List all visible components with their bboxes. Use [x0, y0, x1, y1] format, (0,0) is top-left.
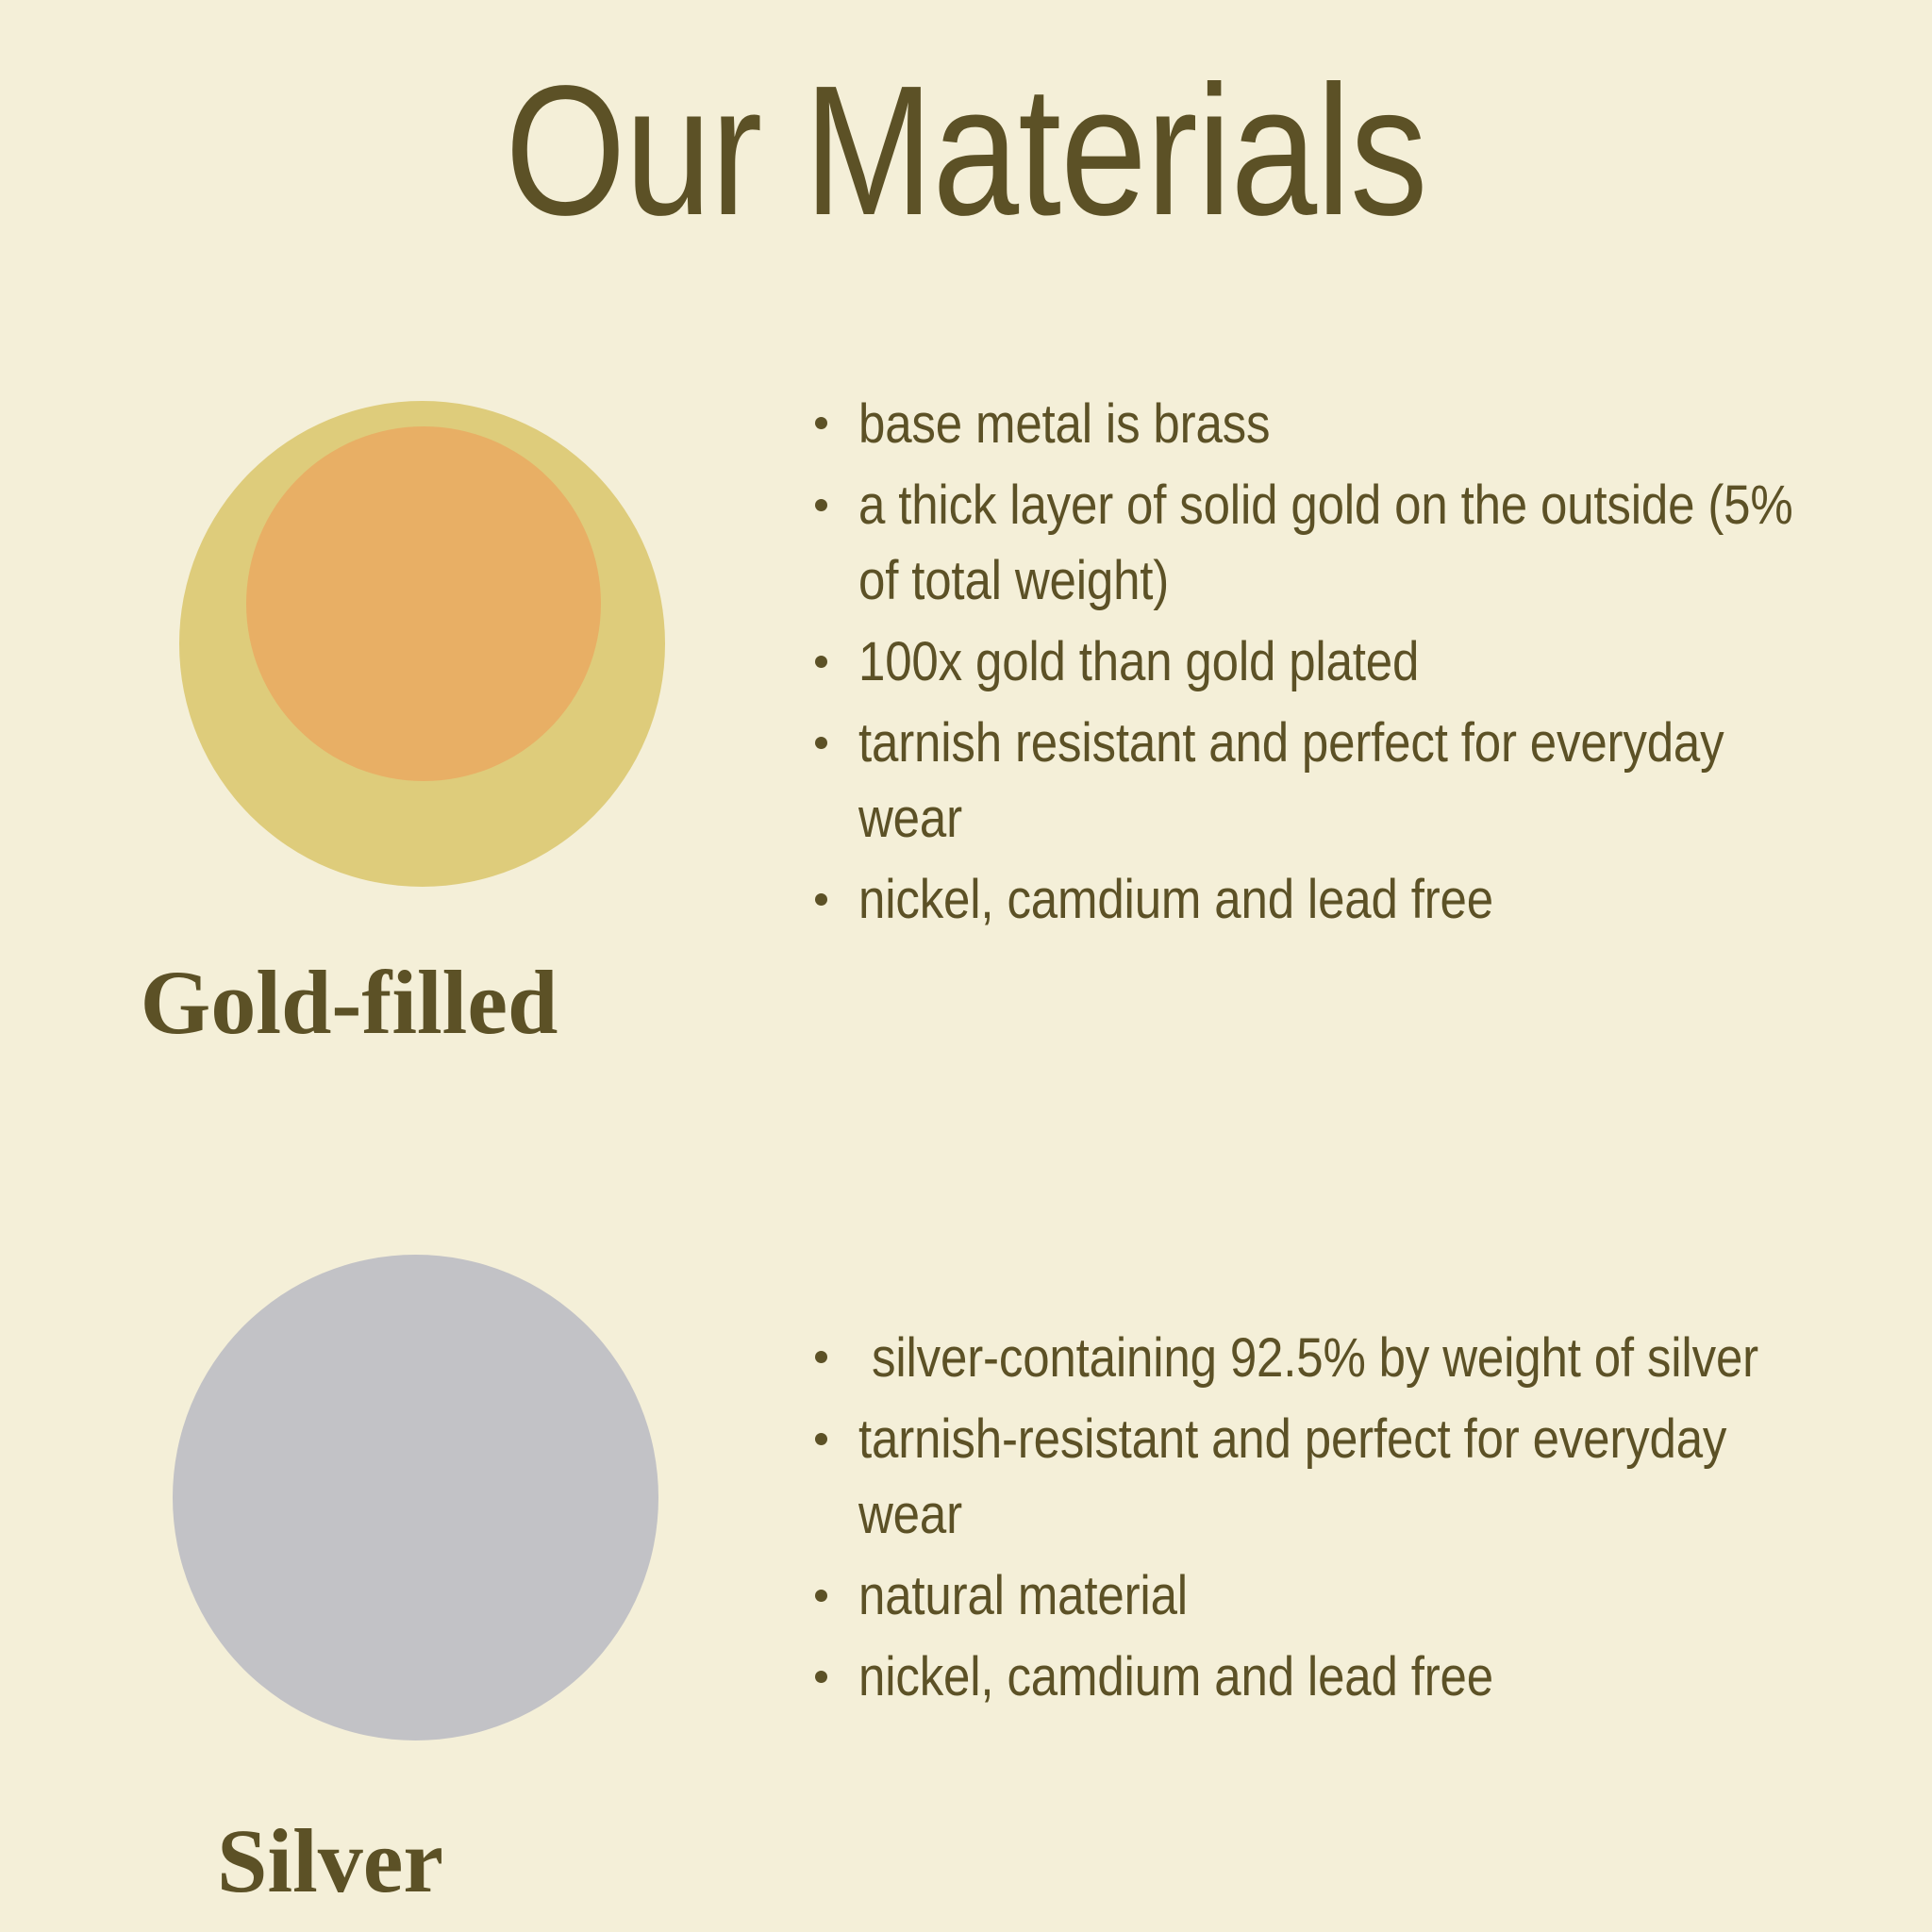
bullet-dot-icon: [815, 893, 827, 906]
list-item: 100x gold than gold plated: [809, 625, 1923, 700]
bullet-dot-icon: [815, 1351, 827, 1363]
silver-circle-icon: [173, 1255, 658, 1740]
bullet-dot-icon: [815, 656, 827, 668]
list-item: nickel, camdium and lead free: [809, 1640, 1923, 1715]
list-item: natural material: [809, 1558, 1923, 1634]
list-item-text: base metal is brass: [858, 387, 1795, 462]
list-item-text: natural material: [858, 1558, 1795, 1634]
gold-filled-bullet-list: base metal is brass a thick layer of sol…: [809, 387, 1923, 943]
silver-swatch-wrap: [0, 1236, 783, 1764]
list-item: silver-containing 92.5% by weight of sil…: [809, 1321, 1923, 1396]
list-item: base metal is brass: [809, 387, 1923, 462]
page-title: Our Materials: [155, 58, 1777, 243]
list-item-text: nickel, camdium and lead free: [858, 1640, 1795, 1715]
list-item: tarnish resistant and perfect for everyd…: [809, 706, 1923, 857]
bullet-dot-icon: [815, 1590, 827, 1602]
list-item-text: nickel, camdium and lead free: [858, 862, 1795, 938]
gold-filled-inner-circle-icon: [246, 426, 601, 781]
bullet-dot-icon: [815, 737, 827, 749]
gold-filled-swatch-wrap: [0, 377, 783, 906]
bullet-dot-icon: [815, 1433, 827, 1445]
silver-bullet-list: silver-containing 92.5% by weight of sil…: [809, 1321, 1923, 1721]
list-item-text: tarnish resistant and perfect for everyd…: [858, 706, 1795, 857]
bullet-dot-icon: [815, 499, 827, 511]
silver-label: Silver: [0, 1816, 660, 1907]
bullet-dot-icon: [815, 1671, 827, 1683]
gold-filled-label: Gold-filled: [0, 958, 698, 1048]
list-item: tarnish-resistant and perfect for everyd…: [809, 1402, 1923, 1553]
list-item: nickel, camdium and lead free: [809, 862, 1923, 938]
bullet-dot-icon: [815, 417, 827, 429]
list-item: a thick layer of solid gold on the outsi…: [809, 468, 1923, 619]
list-item-text: silver-containing 92.5% by weight of sil…: [858, 1321, 1795, 1396]
list-item-text: 100x gold than gold plated: [858, 625, 1795, 700]
list-item-text: tarnish-resistant and perfect for everyd…: [858, 1402, 1795, 1553]
materials-infographic: Our Materials Gold-filled base metal is …: [0, 0, 1932, 1932]
list-item-text: a thick layer of solid gold on the outsi…: [858, 468, 1795, 619]
